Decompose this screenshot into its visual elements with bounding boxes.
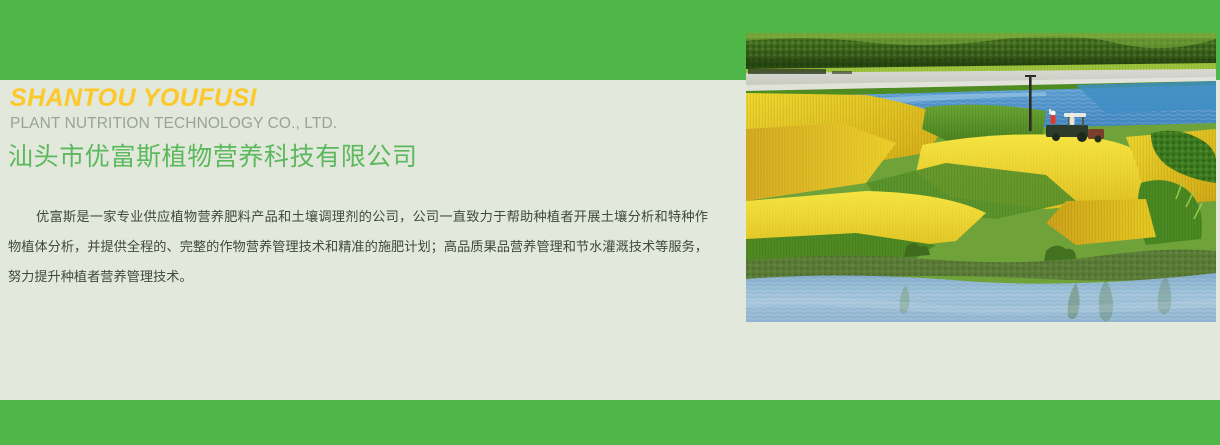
- company-intro-paragraph: 优富斯是一家专业供应植物营养肥料产品和土壤调理剂的公司，公司一直致力于帮助种植者…: [8, 203, 708, 293]
- company-name-english: SHANTOU YOUFUSI: [10, 86, 257, 111]
- page-root: SHANTOU YOUFUSI PLANT NUTRITION TECHNOLO…: [0, 0, 1220, 445]
- company-subtitle-english: PLANT NUTRITION TECHNOLOGY CO., LTD.: [10, 116, 337, 132]
- company-name-chinese: 汕头市优富斯植物营养科技有限公司: [8, 141, 418, 172]
- rice-paddy-illustration: [746, 33, 1216, 322]
- footer-green-bar: [0, 400, 1220, 445]
- rice-paddy-field-photo: [746, 33, 1216, 322]
